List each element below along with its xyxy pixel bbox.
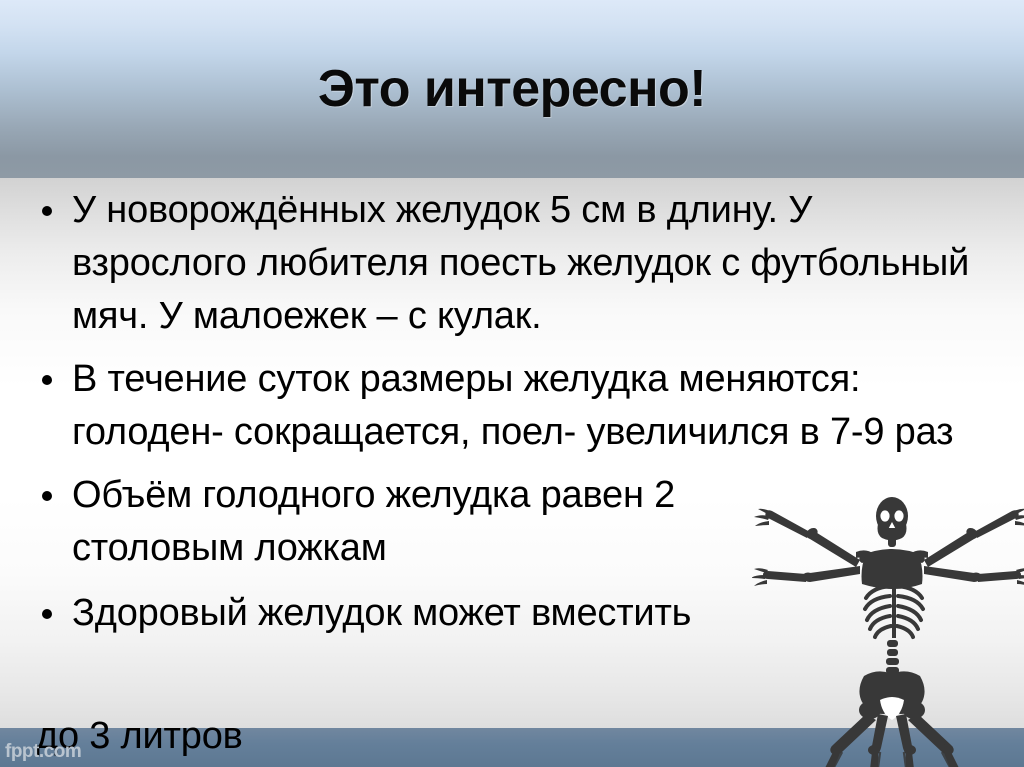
list-item: Здоровый желудок может вместить [0, 587, 872, 640]
list-item-text: У новорождённых желудок 5 см в длину. У … [72, 184, 987, 343]
bullet-dot-icon [42, 206, 52, 216]
slide-body: У новорождённых желудок 5 см в длину. У … [0, 178, 1024, 646]
list-item-text: Здоровый желудок может вместить [72, 587, 872, 640]
bullet-dot-icon [42, 491, 52, 501]
fact-bullet-list: У новорождённых желудок 5 см в длину. У … [0, 184, 1024, 640]
slide-title: Это интересно! [0, 62, 1024, 117]
list-item: У новорождённых желудок 5 см в длину. У … [0, 184, 987, 343]
slide: Это интересно! [0, 0, 1024, 767]
list-item-text: Объём голодного желудка равен 2 столовым… [72, 469, 852, 575]
bullet-dot-icon [42, 609, 52, 619]
list-item: В течение суток размеры желудка меняются… [0, 353, 987, 459]
list-item-text: В течение суток размеры желудка меняются… [72, 353, 987, 459]
bullet-dot-icon [42, 375, 52, 385]
fppt-watermark: fppt.com [5, 741, 81, 763]
list-item: Объём голодного желудка равен 2 столовым… [0, 469, 852, 575]
